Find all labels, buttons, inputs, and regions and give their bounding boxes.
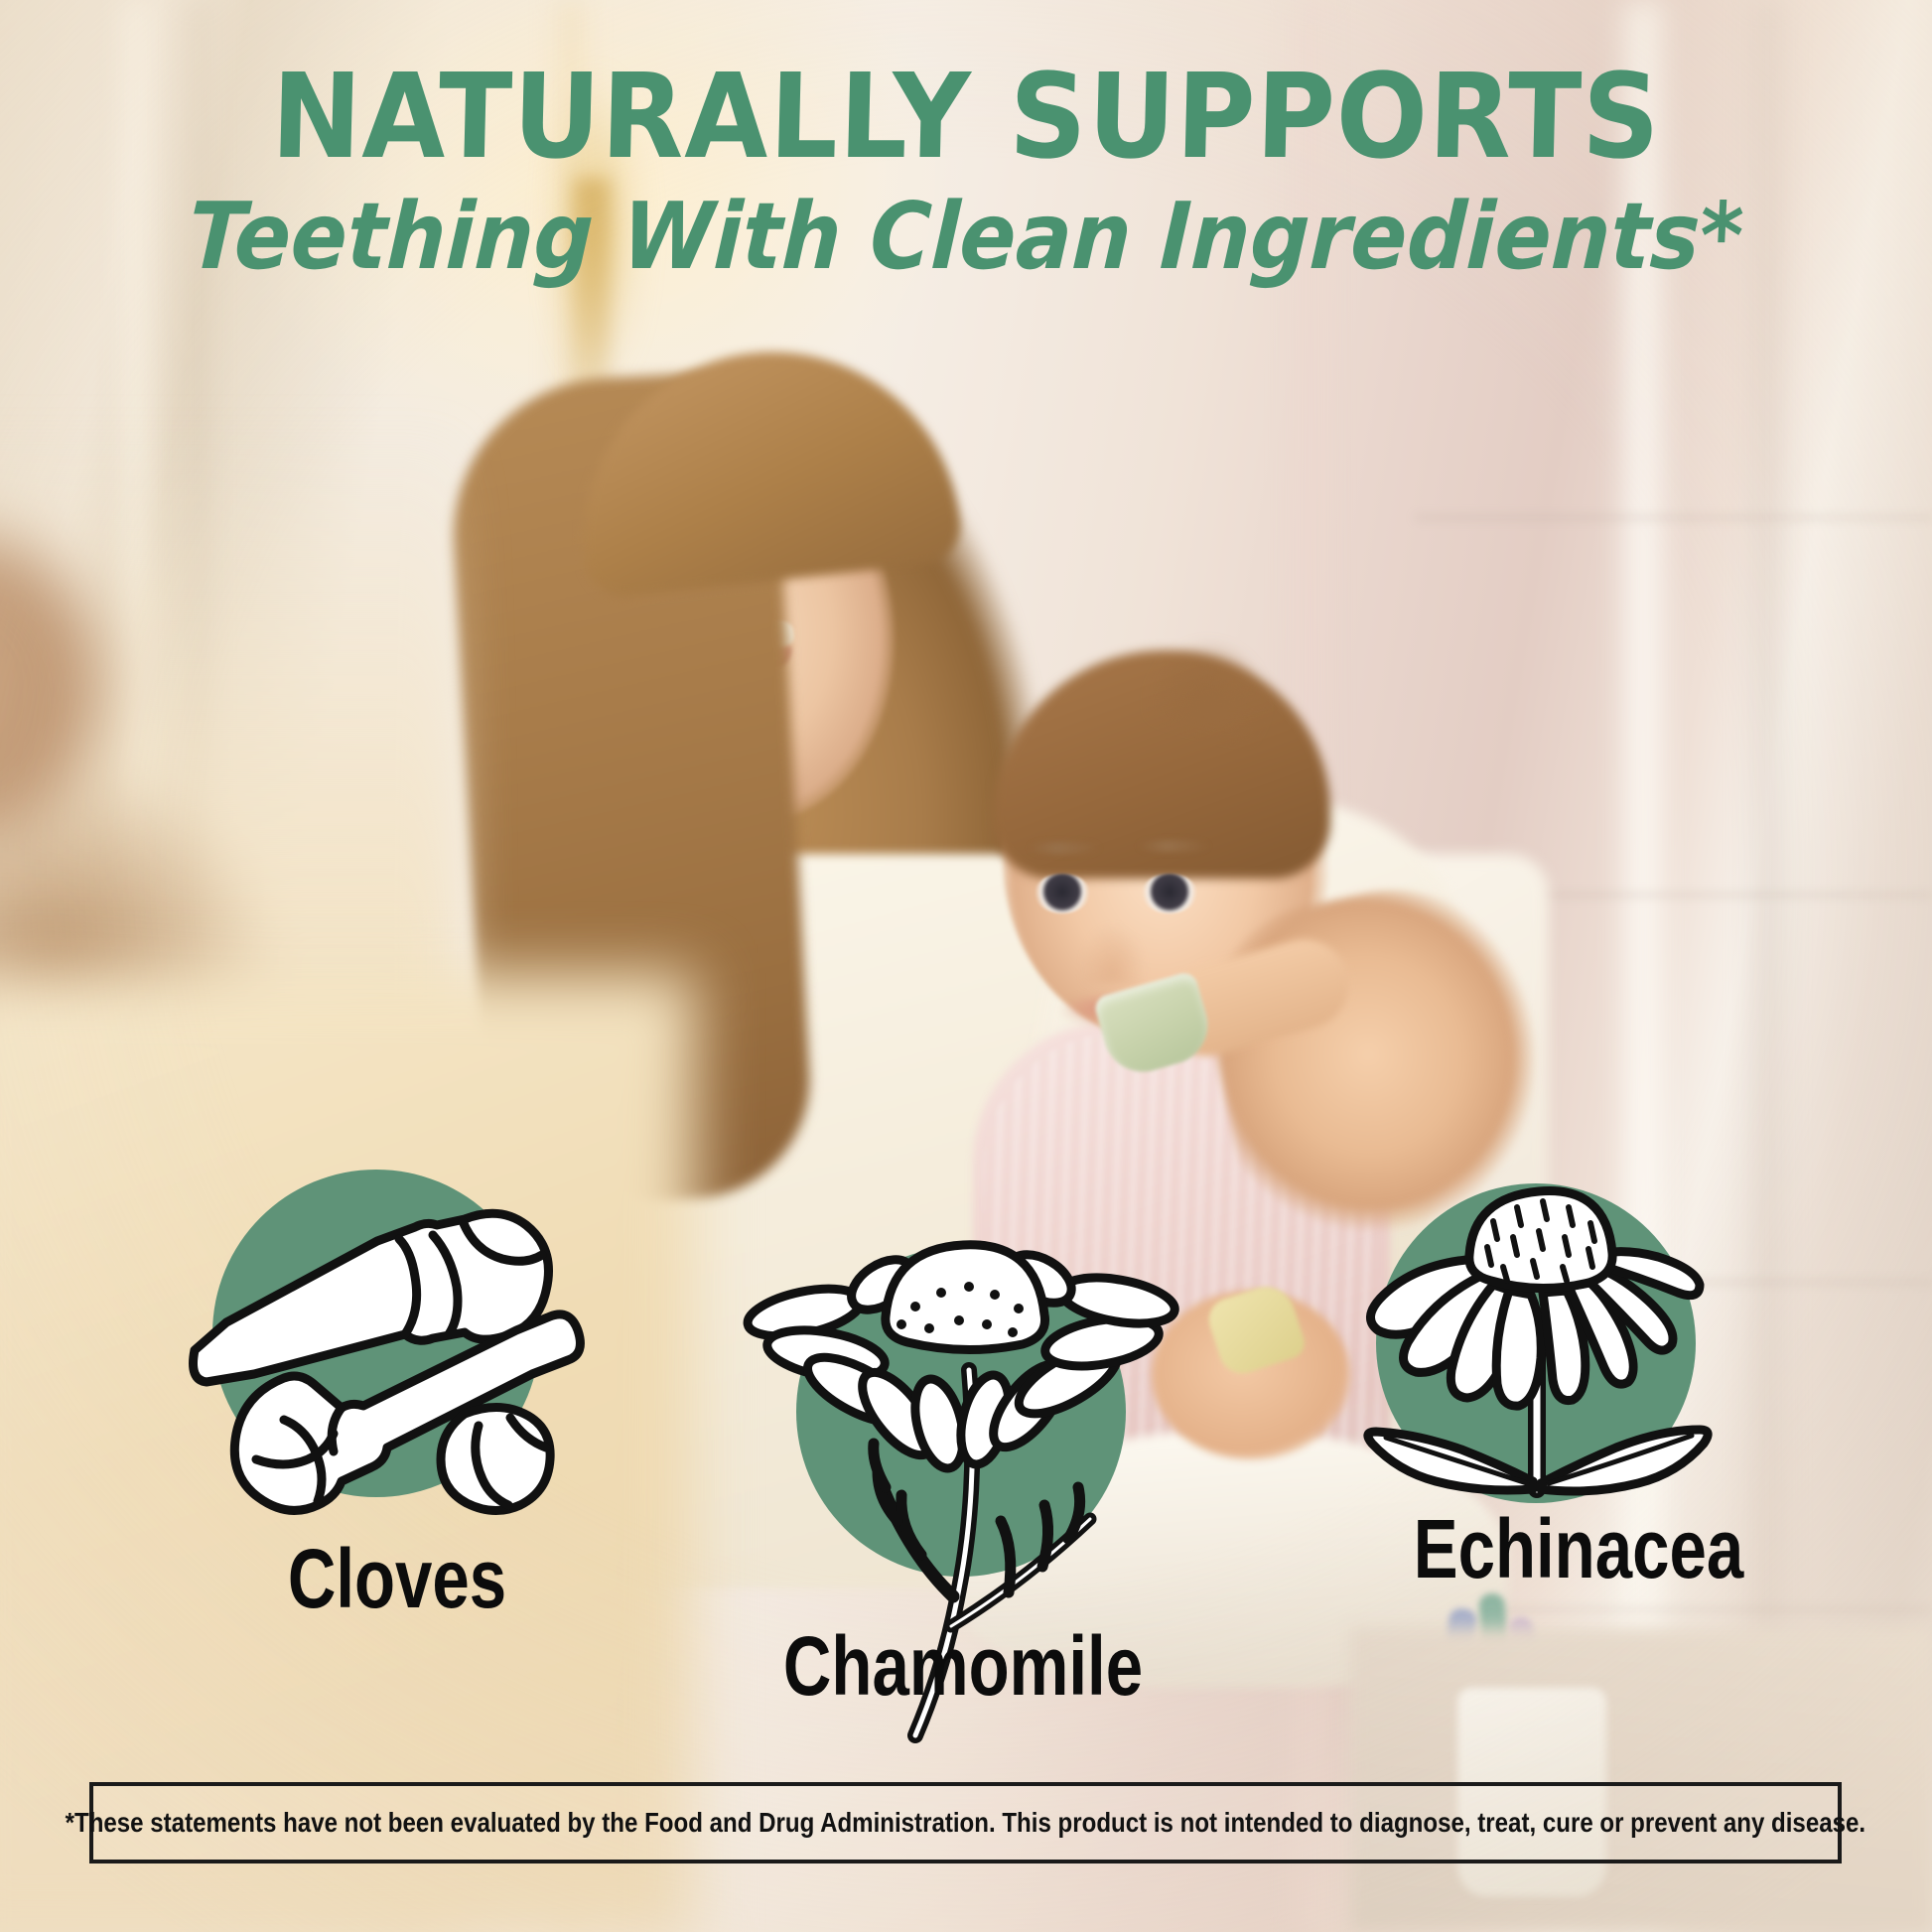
ingredient-label-echinacea: Echinacea bbox=[1332, 1507, 1825, 1590]
page-title: NATURALLY SUPPORTS bbox=[75, 58, 1856, 175]
page-subtitle: Teething With Clean Ingredients* bbox=[94, 189, 1838, 286]
ingredient-label-cloves: Cloves bbox=[199, 1537, 596, 1620]
disclaimer-box: *These statements have not been evaluate… bbox=[89, 1782, 1842, 1863]
clove-buds-icon bbox=[167, 1170, 584, 1527]
ingredient-badge-echinacea bbox=[1358, 1183, 1775, 1720]
ingredient-label-chamomile: Chamomile bbox=[741, 1624, 1185, 1708]
disclaimer-text: *These statements have not been evaluate… bbox=[66, 1807, 1865, 1839]
headline-block: NATURALLY SUPPORTS Teething With Clean I… bbox=[0, 58, 1932, 286]
